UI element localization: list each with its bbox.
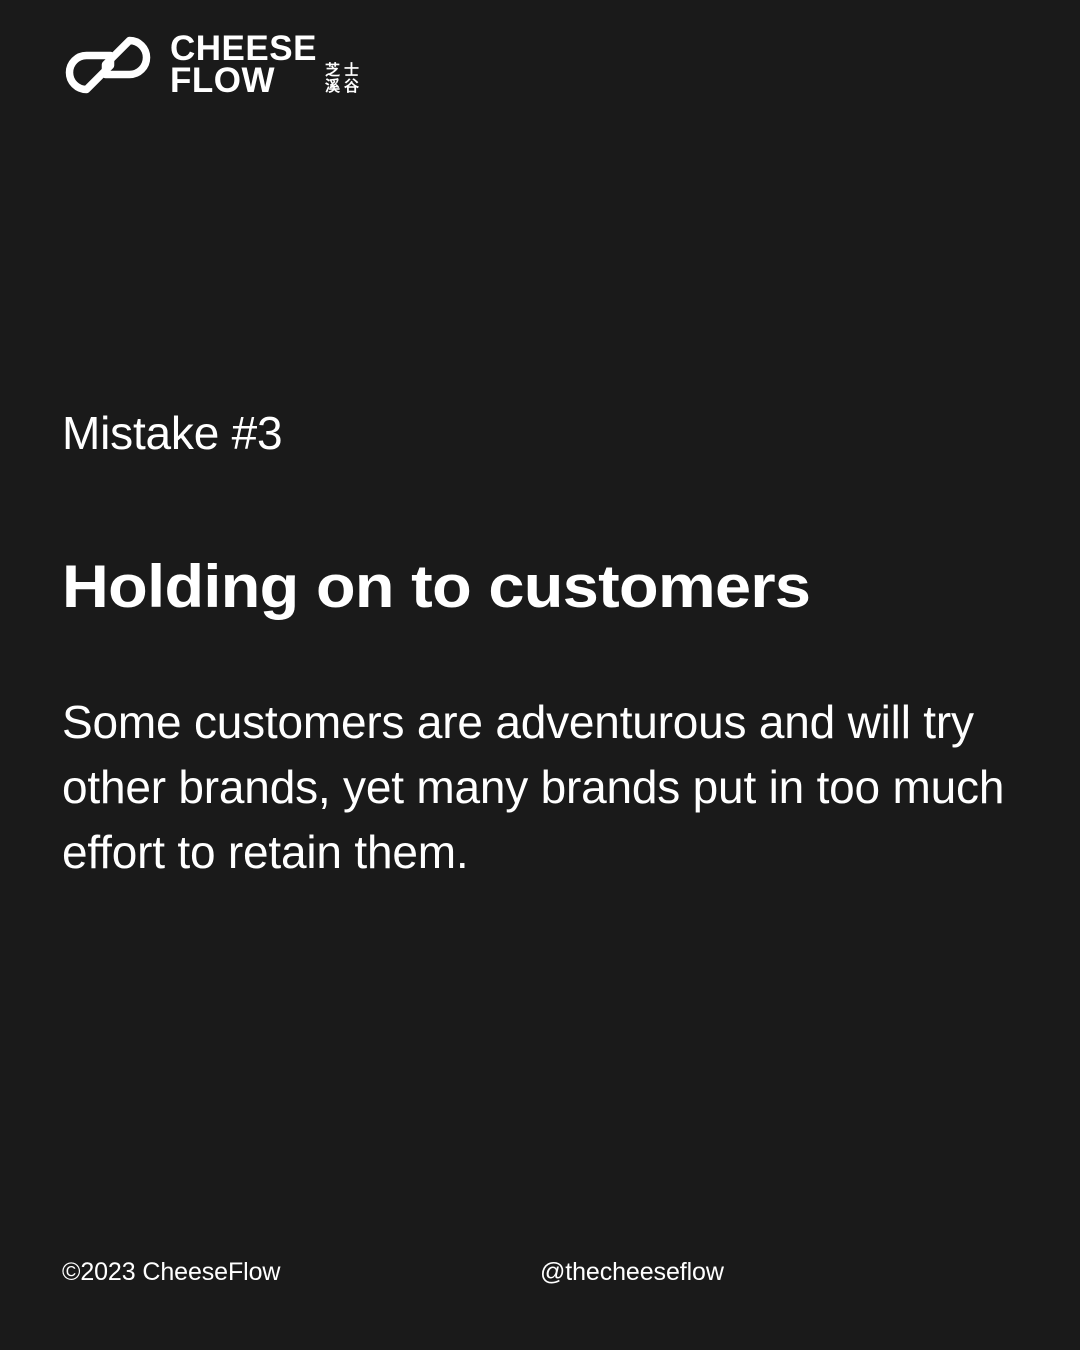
eyebrow-label: Mistake #3 — [62, 408, 1022, 459]
footer: ©2023 CheeseFlow @thecheeseflow — [62, 1258, 1018, 1294]
social-post-slide: CHEESE FLOW 芝 士 溪 谷 Mistake #3 Holding o… — [0, 0, 1080, 1350]
brand-wordmark: CHEESE FLOW 芝 士 溪 谷 — [170, 33, 359, 97]
brand-logo: CHEESE FLOW 芝 士 溪 谷 — [60, 32, 359, 98]
brand-cjk-char-2: 士 — [344, 63, 359, 79]
footer-social-handle: @thecheeseflow — [540, 1258, 724, 1287]
brand-cjk-char-4: 谷 — [344, 79, 359, 95]
post-content: Mistake #3 Holding on to customers Some … — [62, 408, 1022, 885]
footer-copyright: ©2023 CheeseFlow — [62, 1258, 280, 1287]
brand-wordmark-latin: CHEESE FLOW — [170, 33, 317, 97]
brand-cjk-char-1: 芝 — [325, 63, 340, 79]
brand-wordmark-cjk: 芝 士 溪 谷 — [325, 63, 359, 98]
brand-cjk-char-3: 溪 — [325, 79, 340, 95]
brand-wordmark-line2: FLOW — [170, 65, 317, 97]
page-title: Holding on to customers — [62, 555, 1080, 618]
infinity-flow-icon — [60, 32, 156, 98]
body-paragraph: Some customers are adventurous and will … — [62, 690, 1012, 885]
